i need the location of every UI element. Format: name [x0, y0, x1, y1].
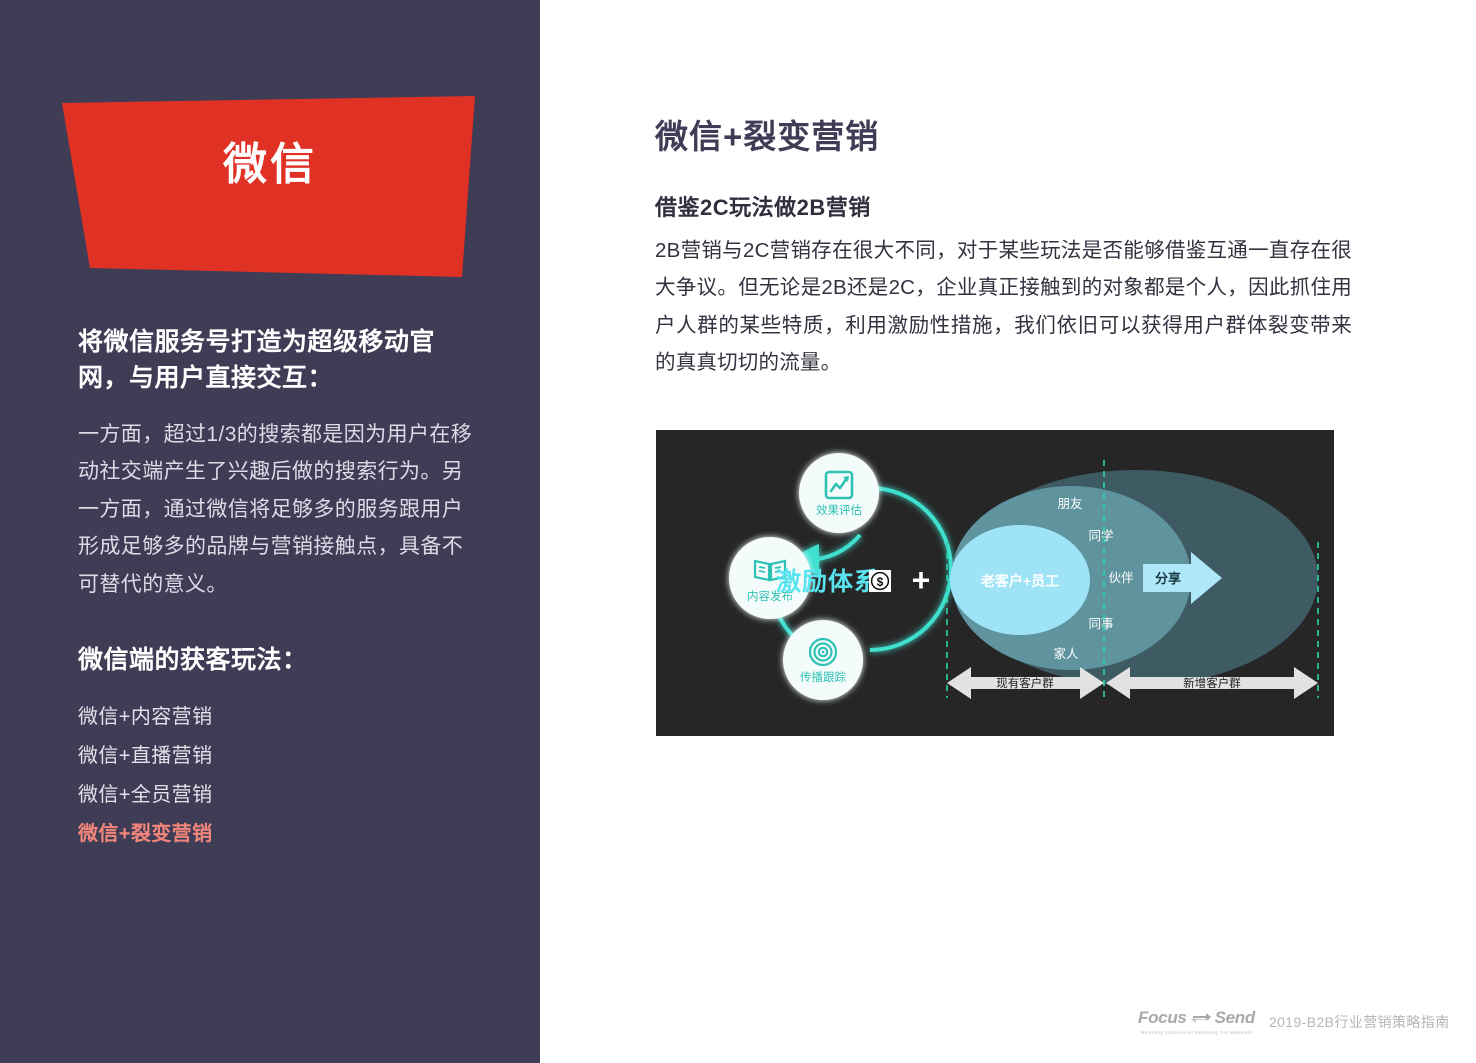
node-label: 效果评估 [816, 503, 862, 517]
logo-tagline: Marketing Solutions for Marketing, For M… [1141, 1030, 1253, 1035]
svg-text:$: $ [877, 575, 884, 589]
fission-marketing-diagram: 效果评估 内容发布 [656, 430, 1334, 736]
list-item-active[interactable]: 微信+裂变营销 [78, 815, 478, 854]
sidebar: 微信 将微信服务号打造为超级移动官网，与用户直接交互： 一方面，超过1/3的搜索… [0, 0, 540, 1063]
list-item[interactable]: 微信+全员营销 [78, 776, 478, 815]
banner-title: 微信 [0, 143, 540, 187]
plus-sign: + [912, 562, 931, 598]
incentive-system-label: 激励体系 [776, 567, 880, 596]
sidebar-content: 将微信服务号打造为超级移动官网，与用户直接交互： 一方面，超过1/3的搜索都是因… [78, 325, 478, 854]
node-effect-evaluation: 效果评估 [799, 453, 879, 533]
list-item[interactable]: 微信+直播营销 [78, 737, 478, 776]
sidebar-list-heading: 微信端的获客玩法： [78, 643, 478, 679]
focussend-logo: Focus Send Marketing Solutions for Marke… [1138, 1008, 1255, 1035]
body-paragraph: 2B营销与2C营销存在很大不同，对于某些玩法是否能够借鉴互通一直存在很大争议。但… [655, 232, 1352, 381]
play-method-list: 微信+内容营销 微信+直播营销 微信+全员营销 微信+裂变营销 [78, 698, 478, 854]
money-badge-icon: $ [869, 570, 891, 592]
core-audience-label: 老客户+员工 [981, 573, 1059, 589]
footer-caption: 2019-B2B行业营销策略指南 [1269, 1012, 1450, 1032]
ring-label-partner: 伙伴 [1108, 571, 1134, 585]
sidebar-heading: 将微信服务号打造为超级移动官网，与用户直接交互： [78, 325, 478, 396]
footer: Focus Send Marketing Solutions for Marke… [1138, 1008, 1450, 1035]
logo-text-left: Focus [1138, 1008, 1187, 1028]
ring-label-family: 家人 [1053, 646, 1079, 661]
exchange-arrows-icon [1190, 1011, 1212, 1025]
range-label-existing: 现有客户群 [996, 676, 1054, 690]
ring-label-classmate: 同学 [1088, 528, 1113, 543]
list-item[interactable]: 微信+内容营销 [78, 698, 478, 737]
logo-row: Focus Send [1138, 1008, 1255, 1028]
node-spread-tracking: 传播跟踪 [783, 620, 863, 700]
main-content: 微信+裂变营销 借鉴2C玩法做2B营销 2B营销与2C营销存在很大不同，对于某些… [540, 0, 1476, 1063]
ring-label-friend: 朋友 [1057, 497, 1082, 511]
logo-text-right: Send [1215, 1008, 1255, 1028]
range-label-new: 新增客户群 [1183, 676, 1241, 690]
node-label: 传播跟踪 [800, 670, 846, 684]
section-subtitle: 借鉴2C玩法做2B营销 [655, 190, 871, 222]
sidebar-paragraph: 一方面，超过1/3的搜索都是因为用户在移动社交端产生了兴趣后做的搜索行为。另一方… [78, 416, 478, 603]
ring-label-colleague: 同事 [1088, 617, 1113, 631]
page-title: 微信+裂变营销 [655, 110, 879, 158]
share-label: 分享 [1155, 571, 1181, 586]
diagram-canvas: 效果评估 内容发布 [656, 430, 1334, 736]
wechat-banner: 微信 [0, 0, 540, 300]
radar-target-icon [810, 639, 836, 665]
